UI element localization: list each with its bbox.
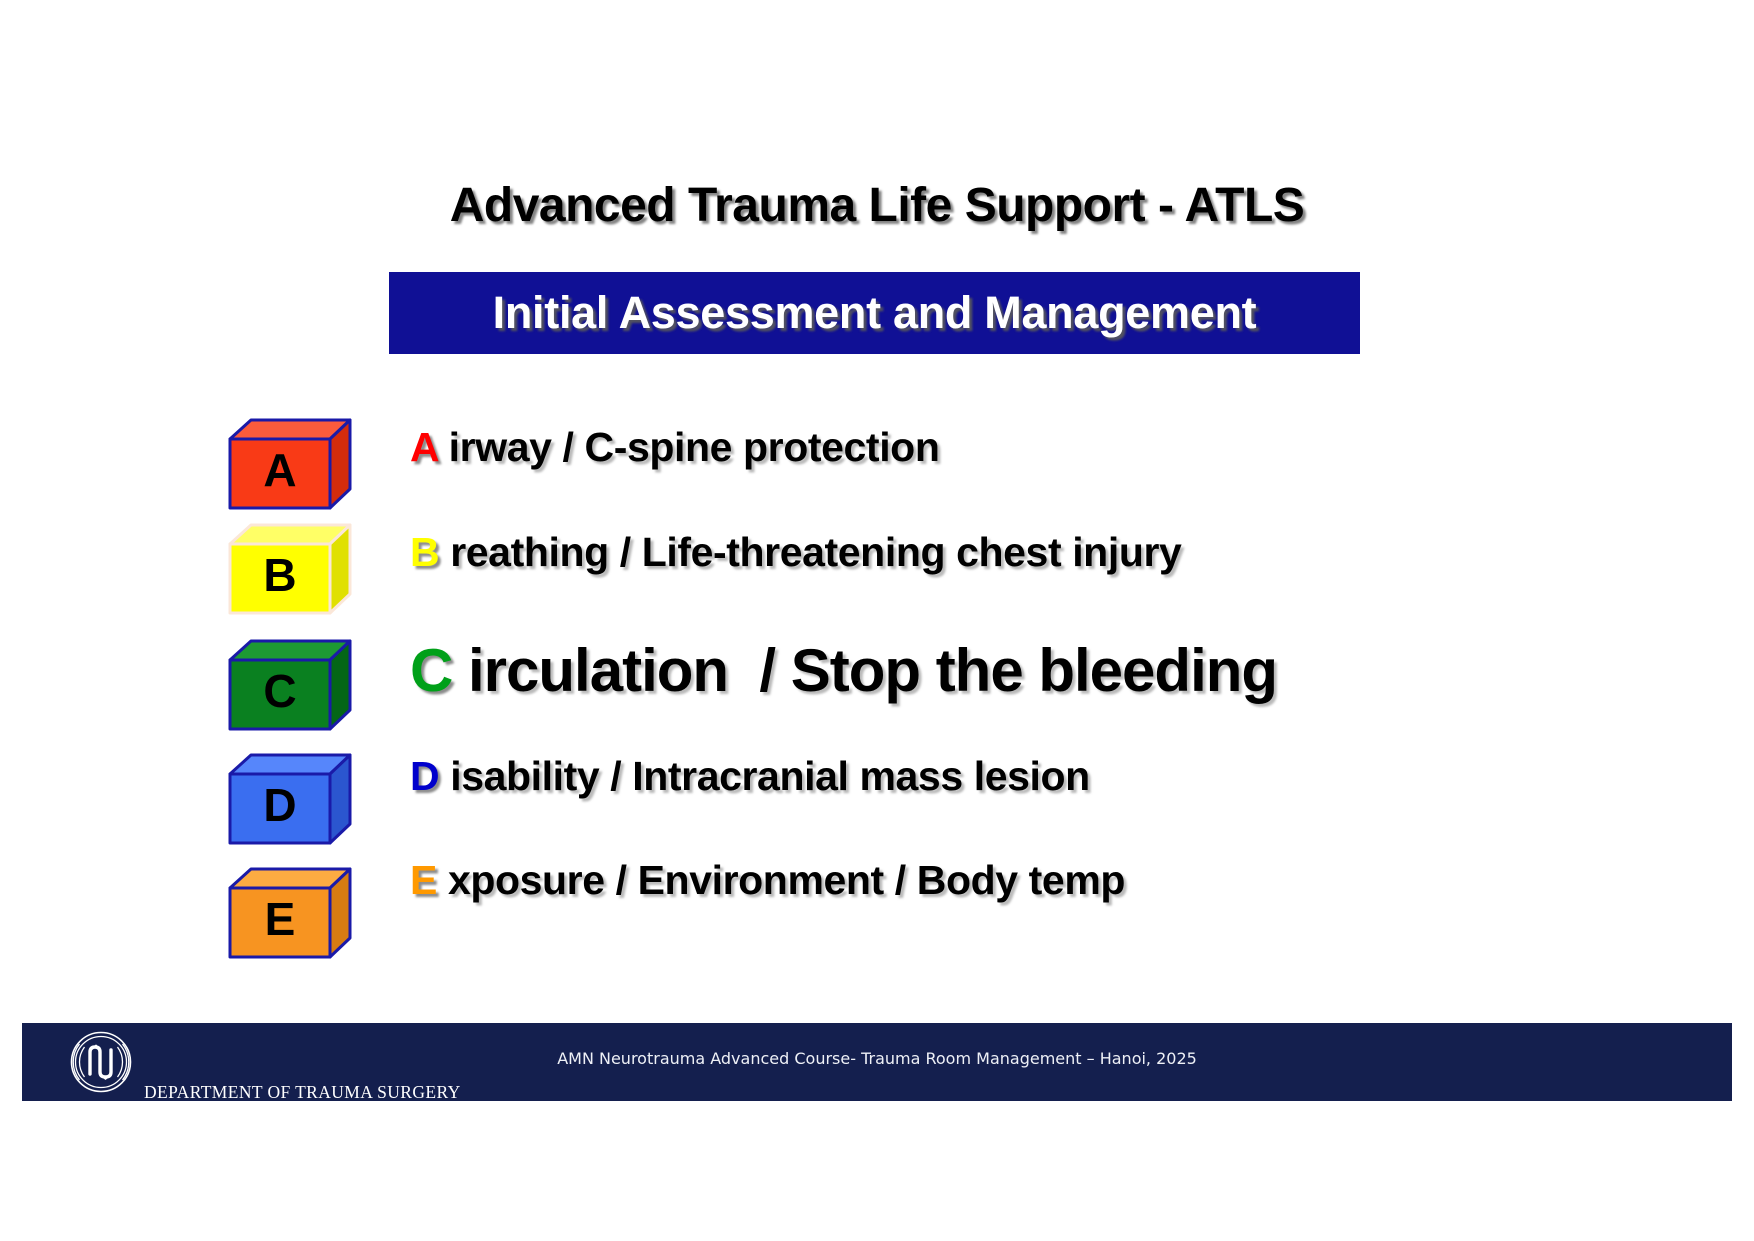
- abcde-cube-c: C: [226, 638, 354, 734]
- abcde-lead-letter: A: [410, 424, 438, 470]
- abcde-text-d: D isability / Intracranial mass lesion: [410, 753, 1090, 800]
- abcde-text-a: A irway / C-spine protection: [410, 424, 939, 471]
- footer-brand-line1: DEPARTMENT OF TRAUMA SURGERY: [144, 1082, 461, 1103]
- abcde-lead-letter: E: [410, 857, 437, 903]
- abcde-list: AA irway / C-spine protectionBB reathing…: [0, 0, 1754, 1000]
- abcde-cube-letter: B: [226, 544, 334, 606]
- footer-brand-line2: MEDICAL UNIVERSITY OF VIENNA: [144, 1145, 461, 1166]
- abcde-cube-letter: C: [226, 660, 334, 722]
- abcde-cube-b: B: [226, 522, 354, 618]
- abcde-text-c: C irculation / Stop the bleeding: [410, 636, 1277, 705]
- footer-bar: DEPARTMENT OF TRAUMA SURGERY MEDICAL UNI…: [22, 1023, 1732, 1101]
- abcde-description: reathing / Life-threatening chest injury: [439, 529, 1181, 575]
- abcde-cube-d: D: [226, 752, 354, 848]
- abcde-text-e: E xposure / Environment / Body temp: [410, 857, 1125, 904]
- abcde-description: isability / Intracranial mass lesion: [439, 753, 1090, 799]
- abcde-lead-letter: D: [410, 753, 439, 799]
- abcde-lead-letter: B: [410, 529, 439, 575]
- footer-course-label: AMN Neurotrauma Advanced Course- Trauma …: [22, 1049, 1732, 1068]
- abcde-text-b: B reathing / Life-threatening chest inju…: [410, 529, 1181, 576]
- abcde-cube-letter: A: [226, 439, 334, 501]
- abcde-lead-letter: C: [410, 637, 452, 704]
- abcde-cube-letter: D: [226, 774, 334, 836]
- abcde-cube-a: A: [226, 417, 354, 513]
- abcde-description: xposure / Environment / Body temp: [437, 857, 1125, 903]
- abcde-cube-letter: E: [226, 888, 334, 950]
- abcde-cube-e: E: [226, 866, 354, 962]
- abcde-row: EE xposure / Environment / Body temp: [0, 0, 1754, 110]
- abcde-description: irway / C-spine protection: [438, 424, 940, 470]
- abcde-description: irculation / Stop the bleeding: [452, 637, 1277, 704]
